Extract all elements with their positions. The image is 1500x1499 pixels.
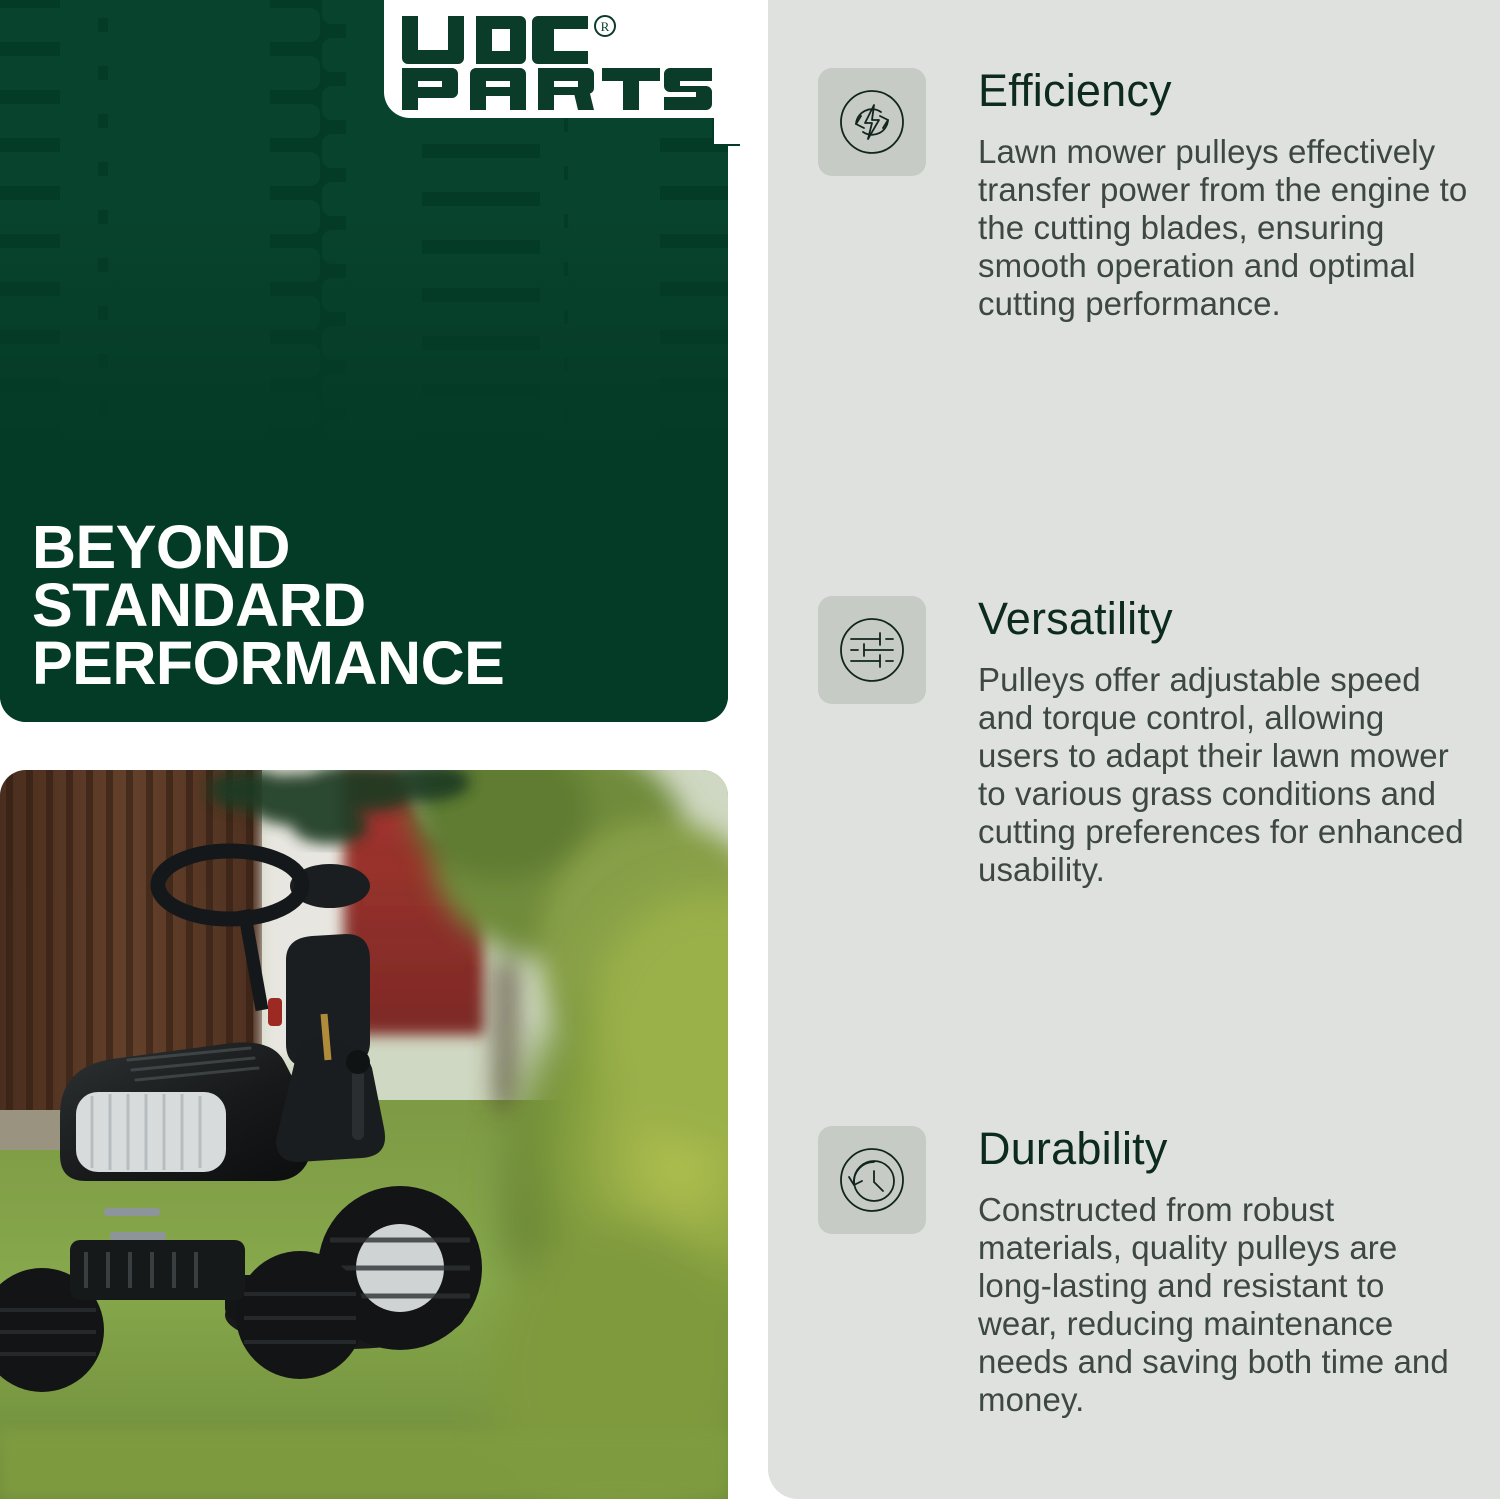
feature-versatility: Versatility Pulleys offer adjustable spe… (818, 596, 1468, 889)
left-column: BEYOND STANDARD PERFORMANCE R (0, 0, 740, 1499)
feature-panel: Efficiency Lawn mower pulleys effectivel… (768, 0, 1500, 1499)
feature-durability: Durability Constructed from robust mater… (818, 1126, 1468, 1419)
feature-efficiency: Efficiency Lawn mower pulleys effectivel… (818, 68, 1468, 323)
feature-title: Durability (978, 1126, 1468, 1172)
feature-title: Efficiency (978, 68, 1468, 114)
hero-headline: BEYOND STANDARD PERFORMANCE (32, 518, 504, 692)
feature-title: Versatility (978, 596, 1468, 642)
headline-line-2: STANDARD (32, 576, 504, 634)
feature-text: Lawn mower pulleys effectively transfer … (978, 133, 1468, 323)
efficiency-icon-tile (818, 68, 926, 176)
headline-line-1: BEYOND (32, 518, 504, 576)
feature-text: Constructed from robust materials, quali… (978, 1191, 1468, 1419)
durability-body: Durability Constructed from robust mater… (978, 1126, 1468, 1419)
efficiency-body: Efficiency Lawn mower pulleys effectivel… (978, 68, 1468, 323)
versatility-body: Versatility Pulleys offer adjustable spe… (978, 596, 1468, 889)
svg-text:R: R (601, 19, 610, 34)
versatility-icon-tile (818, 596, 926, 704)
headline-line-3: PERFORMANCE (32, 634, 504, 692)
udc-parts-logo: R (398, 10, 718, 110)
feature-text: Pulleys offer adjustable speed and torqu… (978, 661, 1468, 889)
durability-icon-tile (818, 1126, 926, 1234)
lawn-mower-photo (0, 770, 728, 1499)
